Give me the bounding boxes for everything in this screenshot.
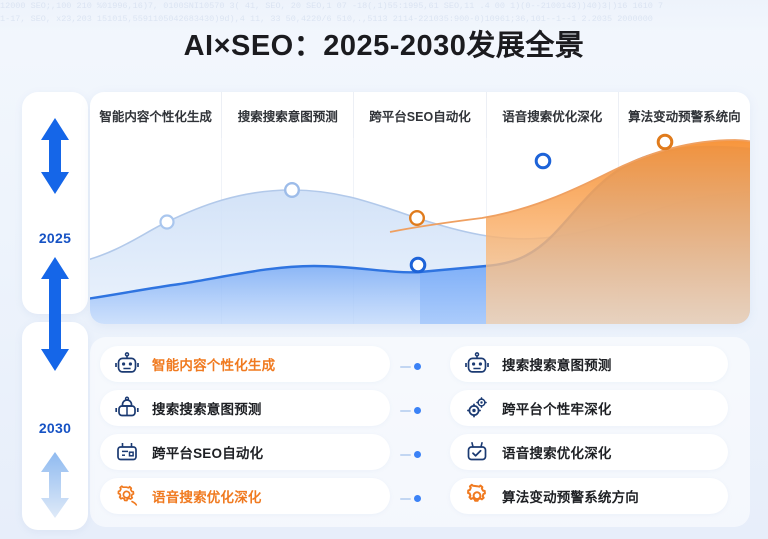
list-item-label: 跨平台SEO自动化 bbox=[152, 442, 263, 462]
chart-marker-a2[interactable] bbox=[285, 183, 299, 197]
connector-dot bbox=[414, 407, 421, 414]
list-item-label: 算法变动预警系统方向 bbox=[502, 486, 639, 506]
chart-marker-c1[interactable] bbox=[410, 211, 424, 225]
chart-marker-b1[interactable] bbox=[411, 258, 425, 272]
list-item-label: 智能内容个性化生成 bbox=[152, 354, 275, 374]
list-item-label: 语音搜索优化深化 bbox=[152, 486, 262, 506]
chart-column-header-4[interactable]: 语音搜索优化深化 bbox=[487, 92, 619, 138]
chart-column-header-5[interactable]: 算法变动预警系统向 bbox=[619, 92, 750, 138]
gear-icon bbox=[464, 483, 490, 509]
chart-column-header-2[interactable]: 搜索搜索意图预测 bbox=[222, 92, 354, 138]
connector-dot bbox=[414, 363, 421, 370]
connector-dash bbox=[400, 454, 411, 456]
list-item[interactable]: 搜索搜索意图预测 bbox=[450, 346, 728, 382]
list-item[interactable]: 语音搜索优化深化 bbox=[100, 478, 390, 514]
list-item-label: 搜索搜索意图预测 bbox=[502, 354, 612, 374]
robot-icon bbox=[114, 351, 140, 377]
list-item[interactable]: 智能内容个性化生成 bbox=[100, 346, 390, 382]
feature-list-left: 智能内容个性化生成 搜索搜索意图预测 bbox=[90, 337, 390, 527]
robot-check-icon bbox=[464, 439, 490, 465]
chart-column-header-3[interactable]: 跨平台SEO自动化 bbox=[354, 92, 486, 138]
gear-eye-icon bbox=[114, 483, 140, 509]
chart-column-headers: 智能内容个性化生成 搜索搜索意图预测 跨平台SEO自动化 语音搜索优化深化 算法… bbox=[90, 92, 750, 138]
list-item-label: 跨平台个性牢深化 bbox=[502, 398, 612, 418]
connector-dash bbox=[400, 498, 411, 500]
list-item-label: 搜索搜索意图预测 bbox=[152, 398, 262, 418]
arrow-2025-icon bbox=[38, 116, 72, 196]
connector-dot bbox=[414, 495, 421, 502]
server-panel-icon bbox=[114, 439, 140, 465]
arrow-middle-icon bbox=[38, 255, 72, 373]
page-title: AI×SEO：2025-2030发展全景 bbox=[0, 22, 768, 64]
robot-person-icon bbox=[114, 395, 140, 421]
list-item[interactable]: 跨平台SEO自动化 bbox=[100, 434, 390, 470]
code-row: 12000 SEO;,100 210 %01996,16)7, 0100SNI1… bbox=[0, 0, 768, 13]
arrow-future-faded-icon bbox=[38, 450, 72, 520]
chart-marker-b2[interactable] bbox=[536, 154, 550, 168]
connector-dot bbox=[414, 451, 421, 458]
double-gear-icon bbox=[464, 395, 490, 421]
chart-marker-a1[interactable] bbox=[161, 216, 174, 229]
connector-dash bbox=[400, 366, 411, 368]
chart-column-header-1[interactable]: 智能内容个性化生成 bbox=[90, 92, 222, 138]
list-item-label: 语音搜索优化深化 bbox=[502, 442, 612, 462]
chart-card: 智能内容个性化生成 搜索搜索意图预测 跨平台SEO自动化 语音搜索优化深化 算法… bbox=[90, 92, 750, 324]
list-item[interactable]: 跨平台个性牢深化 bbox=[450, 390, 728, 426]
feature-list-right: 搜索搜索意图预测 bbox=[428, 337, 728, 527]
list-item[interactable]: 算法变动预警系统方向 bbox=[450, 478, 728, 514]
page-root: 12000 SEO;,100 210 %01996,16)7, 0100SNI1… bbox=[0, 0, 768, 539]
robot-icon bbox=[464, 351, 490, 377]
list-item[interactable]: 语音搜索优化深化 bbox=[450, 434, 728, 470]
list-item[interactable]: 搜索搜索意图预测 bbox=[100, 390, 390, 426]
connector-dash bbox=[400, 410, 411, 412]
